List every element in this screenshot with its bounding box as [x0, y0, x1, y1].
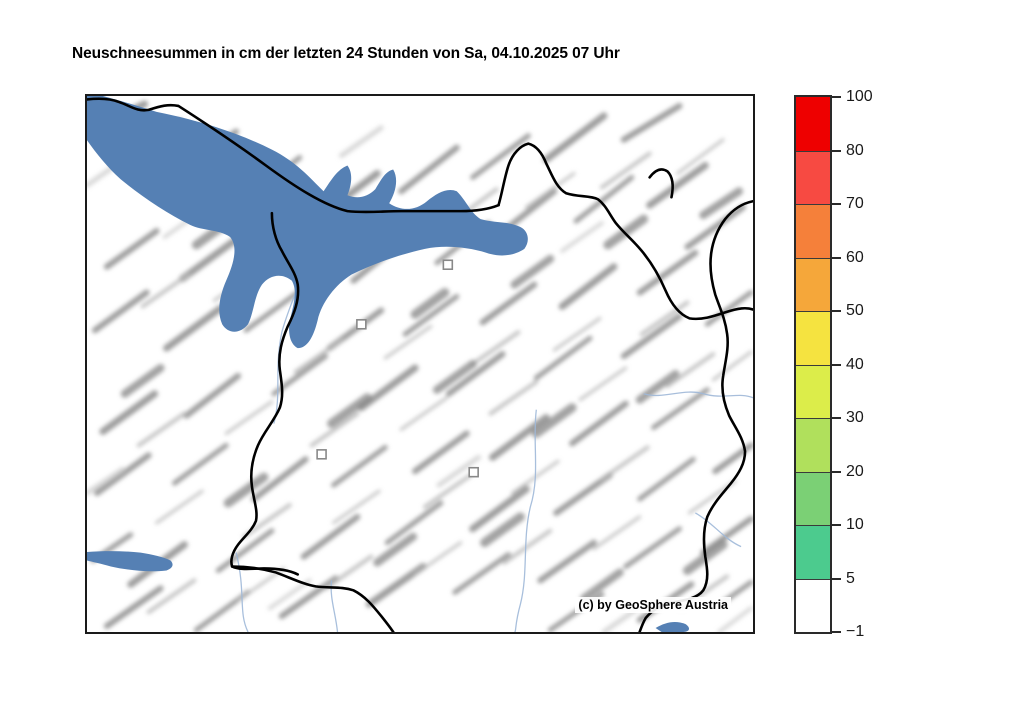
tick-label: 10: [846, 514, 864, 536]
colorbar-band-10-20: [796, 472, 830, 526]
tick-mark: [832, 96, 841, 98]
colorbar-band-40-50: [796, 311, 830, 365]
page-title: Neuschneesummen in cm der letzten 24 Stu…: [72, 45, 620, 63]
tick-mark: [832, 471, 841, 473]
tick-label: 5: [846, 568, 855, 590]
colorbar-band-60-70: [796, 204, 830, 258]
colorbar-tick-labels: 10080706050403020105−1: [832, 95, 902, 634]
colorbar-band-70-80: [796, 151, 830, 205]
tick-label: 20: [846, 461, 864, 483]
tick-label: 50: [846, 300, 864, 322]
colorbar-band-20-30: [796, 418, 830, 472]
tick-mark: [832, 310, 841, 312]
map-canvas: [87, 96, 753, 632]
colorbar-band-50-60: [796, 258, 830, 312]
tick-label: −1: [846, 621, 864, 643]
tick-label: 40: [846, 354, 864, 376]
tick-mark: [832, 150, 841, 152]
colorbar-band-80-100: [796, 97, 830, 151]
map-attribution: (c) by GeoSphere Austria: [575, 597, 731, 613]
colorbar-band-30-40: [796, 365, 830, 419]
colorbar-band-5-10: [796, 525, 830, 579]
tick-label: 70: [846, 193, 864, 215]
tick-label: 100: [846, 86, 873, 108]
station-marker-4[interactable]: [469, 468, 478, 477]
station-marker-2[interactable]: [357, 320, 366, 329]
tick-mark: [832, 364, 841, 366]
tick-mark: [832, 578, 841, 580]
map-panel[interactable]: (c) by GeoSphere Austria: [85, 94, 755, 634]
colorbar-band--1-5: [796, 579, 830, 633]
tick-mark: [832, 257, 841, 259]
tick-label: 60: [846, 247, 864, 269]
station-marker-1[interactable]: [443, 260, 452, 269]
colorbar: [794, 95, 832, 634]
tick-mark: [832, 203, 841, 205]
tick-label: 30: [846, 407, 864, 429]
tick-mark: [832, 417, 841, 419]
tick-label: 80: [846, 140, 864, 162]
tick-mark: [832, 631, 841, 633]
station-marker-3[interactable]: [317, 450, 326, 459]
tick-mark: [832, 524, 841, 526]
